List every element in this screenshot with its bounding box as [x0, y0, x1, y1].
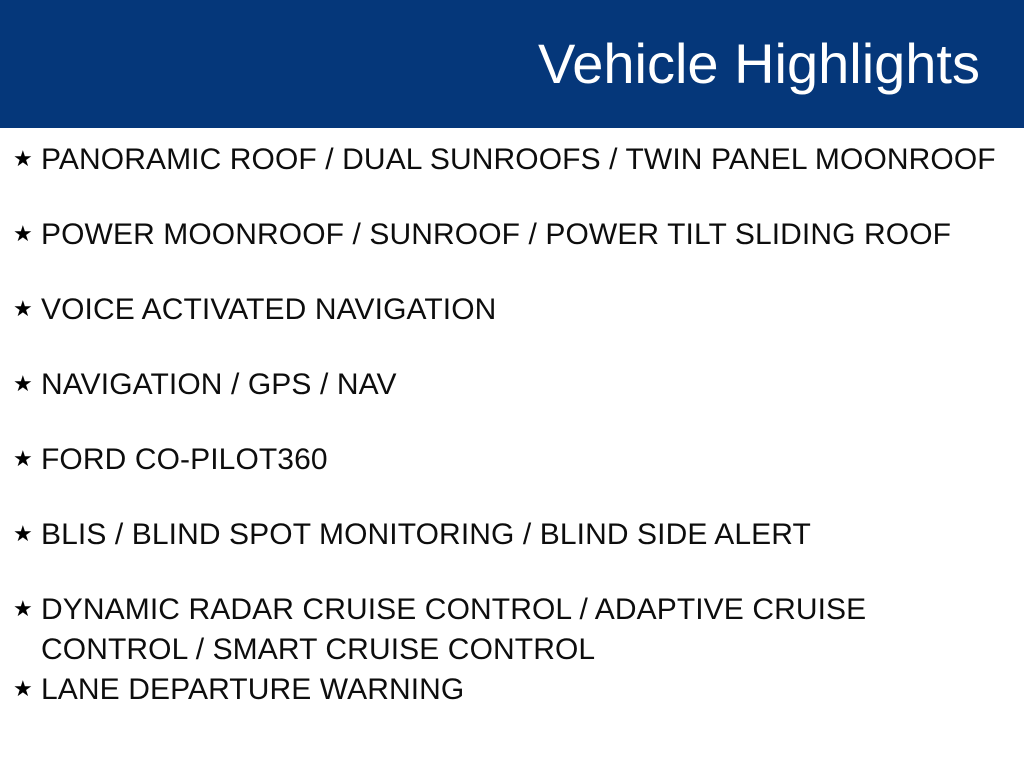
- list-item: ★ PANORAMIC ROOF / DUAL SUNROOFS / TWIN …: [0, 140, 1024, 215]
- star-bullet-icon: ★: [13, 590, 41, 630]
- highlight-label: BLIS / BLIND SPOT MONITORING / BLIND SID…: [41, 515, 1001, 555]
- star-bullet-icon: ★: [13, 290, 41, 330]
- list-item: ★ BLIS / BLIND SPOT MONITORING / BLIND S…: [0, 515, 1024, 590]
- list-item: ★ DYNAMIC RADAR CRUISE CONTROL / ADAPTIV…: [0, 590, 1024, 670]
- highlight-label: FORD CO-PILOT360: [41, 440, 1001, 480]
- list-item: ★ NAVIGATION / GPS / NAV: [0, 365, 1024, 440]
- highlight-label: PANORAMIC ROOF / DUAL SUNROOFS / TWIN PA…: [41, 140, 1001, 180]
- list-item: ★ FORD CO-PILOT360: [0, 440, 1024, 515]
- star-bullet-icon: ★: [13, 670, 41, 710]
- highlight-label: POWER MOONROOF / SUNROOF / POWER TILT SL…: [41, 215, 1001, 255]
- page-title: Vehicle Highlights: [538, 36, 1024, 92]
- star-bullet-icon: ★: [13, 140, 41, 180]
- list-item: ★ VOICE ACTIVATED NAVIGATION: [0, 290, 1024, 365]
- star-bullet-icon: ★: [13, 215, 41, 255]
- list-item: ★ LANE DEPARTURE WARNING: [0, 670, 1024, 745]
- star-bullet-icon: ★: [13, 515, 41, 555]
- star-bullet-icon: ★: [13, 440, 41, 480]
- highlight-label: VOICE ACTIVATED NAVIGATION: [41, 290, 1001, 330]
- vehicle-highlights-slide: Vehicle Highlights ★ PANORAMIC ROOF / DU…: [0, 0, 1024, 768]
- highlight-label: NAVIGATION / GPS / NAV: [41, 365, 1001, 405]
- list-item: ★ POWER MOONROOF / SUNROOF / POWER TILT …: [0, 215, 1024, 290]
- highlight-label: DYNAMIC RADAR CRUISE CONTROL / ADAPTIVE …: [41, 590, 1001, 670]
- highlight-label: LANE DEPARTURE WARNING: [41, 670, 1001, 710]
- star-bullet-icon: ★: [13, 365, 41, 405]
- vehicle-highlights-list: ★ PANORAMIC ROOF / DUAL SUNROOFS / TWIN …: [0, 140, 1024, 745]
- header-banner: Vehicle Highlights: [0, 0, 1024, 128]
